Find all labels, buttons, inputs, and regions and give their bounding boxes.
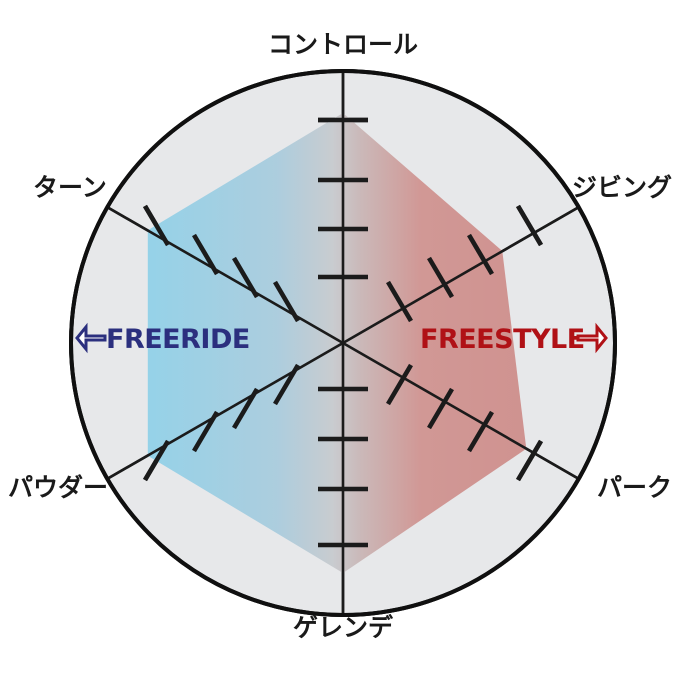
freeride-label: FREERIDE <box>106 324 250 355</box>
axis-label-turn: ターン <box>33 173 107 202</box>
axis-label-park: パーク <box>597 473 672 502</box>
freestyle-annotation: FREESTYLE <box>420 324 606 355</box>
freestyle-label: FREESTYLE <box>420 324 585 355</box>
radar-chart-svg: コントロール ジビング パーク ゲレンデ パウダー ターン FREERIDE F… <box>0 0 680 680</box>
radar-chart: コントロール ジビング パーク ゲレンデ パウダー ターン FREERIDE F… <box>0 0 680 680</box>
axis-label-control: コントロール <box>268 30 418 59</box>
axis-label-powder: パウダー <box>8 473 108 502</box>
axis-label-gelande: ゲレンデ <box>293 613 394 642</box>
axis-label-jibbing: ジビング <box>572 173 672 202</box>
